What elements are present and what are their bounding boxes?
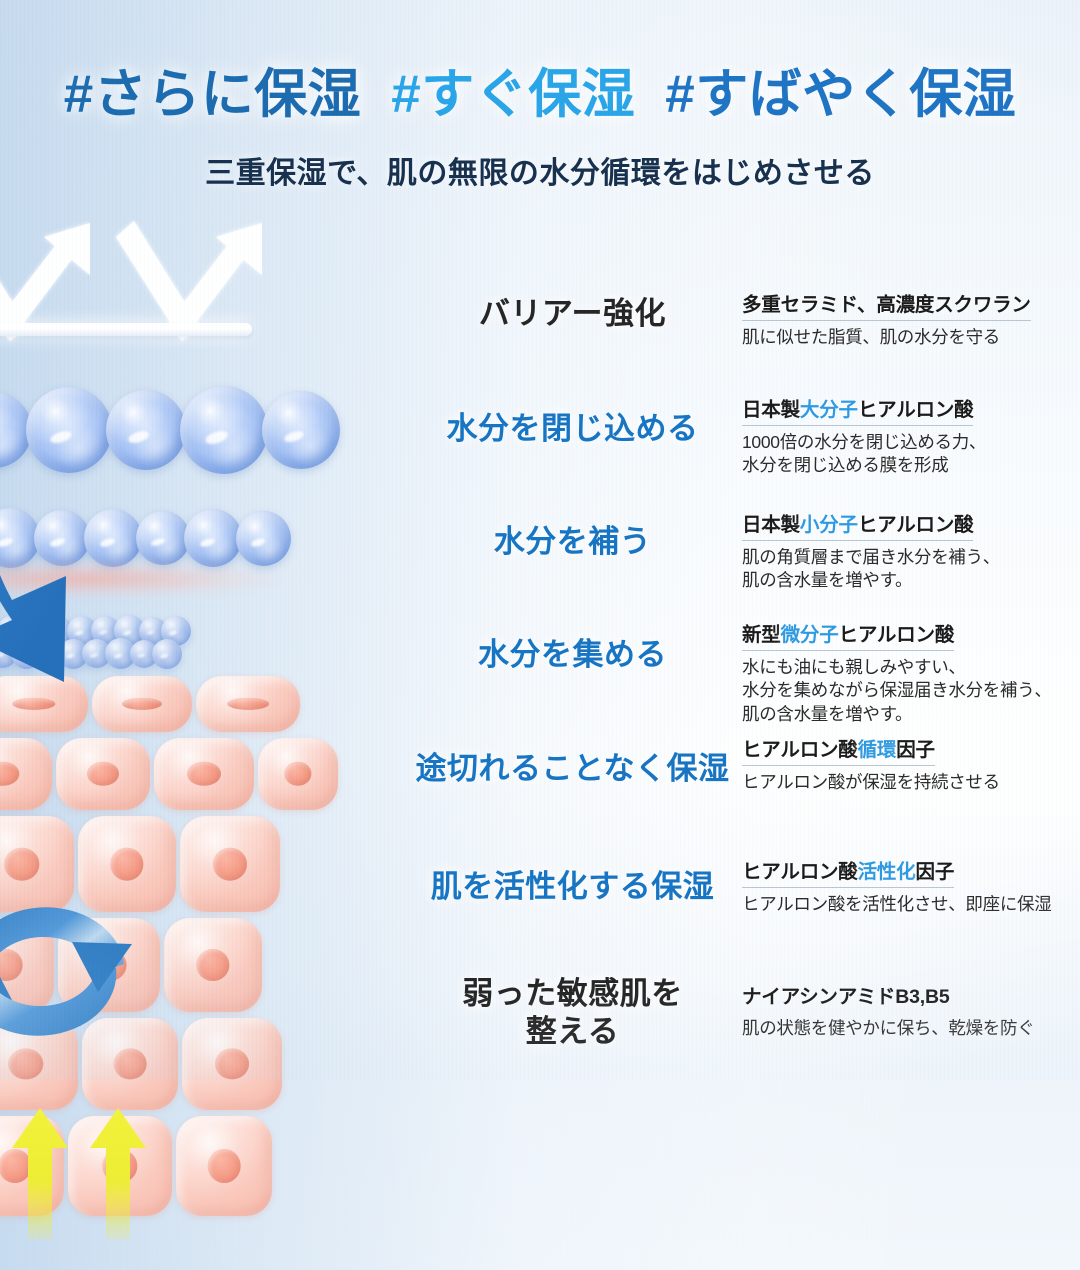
feature-label-6: 弱った敏感肌を 整える [400, 975, 745, 1051]
circulation-arrow-blue-icon [0, 880, 148, 1060]
ingredient-note-0: 多重セラミド、高濃度スクワラン 肌に似せた脂質、肌の水分を守る [742, 288, 1074, 349]
headline-hashtags: #さらに保湿#すぐ保湿#すばやく保湿 [0, 52, 1080, 128]
hashtag-1: #さらに保湿 [64, 52, 361, 128]
hashtag-3: #すばやく保湿 [665, 52, 1016, 128]
ingredient-body-5: ヒアルロン酸を活性化させ、即座に保湿 [742, 893, 1074, 916]
ingredient-title-6: ナイアシンアミドB3,B5 [742, 980, 950, 1012]
feature-label-2: 水分を補う [400, 523, 745, 561]
ingredient-title-5: ヒアルロン酸活性化因子 [742, 855, 954, 888]
ingredient-title-4: ヒアルロン酸循環因子 [742, 733, 935, 766]
ingredient-title-0: 多重セラミド、高濃度スクワラン [742, 288, 1031, 321]
feature-label-4: 途切れることなく保湿 [400, 750, 745, 788]
ingredient-title-2: 日本製小分子ヒアルロン酸 [742, 508, 973, 541]
penetration-arrow-blue-icon [0, 308, 168, 728]
feature-label-5: 肌を活性化する保湿 [400, 868, 745, 906]
ingredient-body-6: 肌の状態を健やかに保ち、乾燥を防ぐ [742, 1017, 1074, 1040]
ingredient-body-0: 肌に似せた脂質、肌の水分を守る [742, 326, 1074, 349]
ingredient-note-5: ヒアルロン酸活性化因子 ヒアルロン酸を活性化させ、即座に保湿 [742, 855, 1074, 916]
ingredient-note-3: 新型微分子ヒアルロン酸 水にも油にも親しみやすい、 水分を集めながら保湿届き水分… [742, 618, 1074, 726]
ingredient-note-4: ヒアルロン酸循環因子 ヒアルロン酸が保湿を持続させる [742, 733, 1074, 794]
activation-arrow-yellow-icon-3 [88, 1108, 148, 1240]
ingredient-title-3: 新型微分子ヒアルロン酸 [742, 618, 954, 651]
ingredient-title-1: 日本製大分子ヒアルロン酸 [742, 393, 973, 426]
ingredient-note-6: ナイアシンアミドB3,B5 肌の状態を健やかに保ち、乾燥を防ぐ [742, 980, 1074, 1040]
ingredient-body-3: 水にも油にも親しみやすい、 水分を集めながら保湿届き水分を補う、 肌の含水量を増… [742, 656, 1074, 726]
activation-arrow-yellow-icon-2 [10, 1108, 70, 1240]
ingredient-note-2: 日本製小分子ヒアルロン酸 肌の角質層まで届き水分を補う、 肌の含水量を増やす。 [742, 508, 1074, 593]
ingredient-body-2: 肌の角質層まで届き水分を補う、 肌の含水量を増やす。 [742, 546, 1074, 593]
feature-label-3: 水分を集める [400, 636, 745, 674]
ingredient-body-4: ヒアルロン酸が保湿を持続させる [742, 771, 1074, 794]
ingredient-note-1: 日本製大分子ヒアルロン酸 1000倍の水分を閉じ込める力、 水分を閉じ込める膜を… [742, 393, 1074, 478]
skin-cross-section-illustration [0, 190, 400, 1080]
ingredient-body-1: 1000倍の水分を閉じ込める力、 水分を閉じ込める膜を形成 [742, 431, 1074, 478]
page-subtitle: 三重保湿で、肌の無限の水分循環をはじめさせる [0, 148, 1080, 192]
feature-label-1: 水分を閉じ込める [400, 410, 745, 448]
header: #さらに保湿#すぐ保湿#すばやく保湿 三重保湿で、肌の無限の水分循環をはじめさせ… [0, 52, 1080, 192]
feature-label-0: バリアー強化 [400, 295, 745, 333]
hashtag-2: #すぐ保湿 [391, 52, 635, 128]
